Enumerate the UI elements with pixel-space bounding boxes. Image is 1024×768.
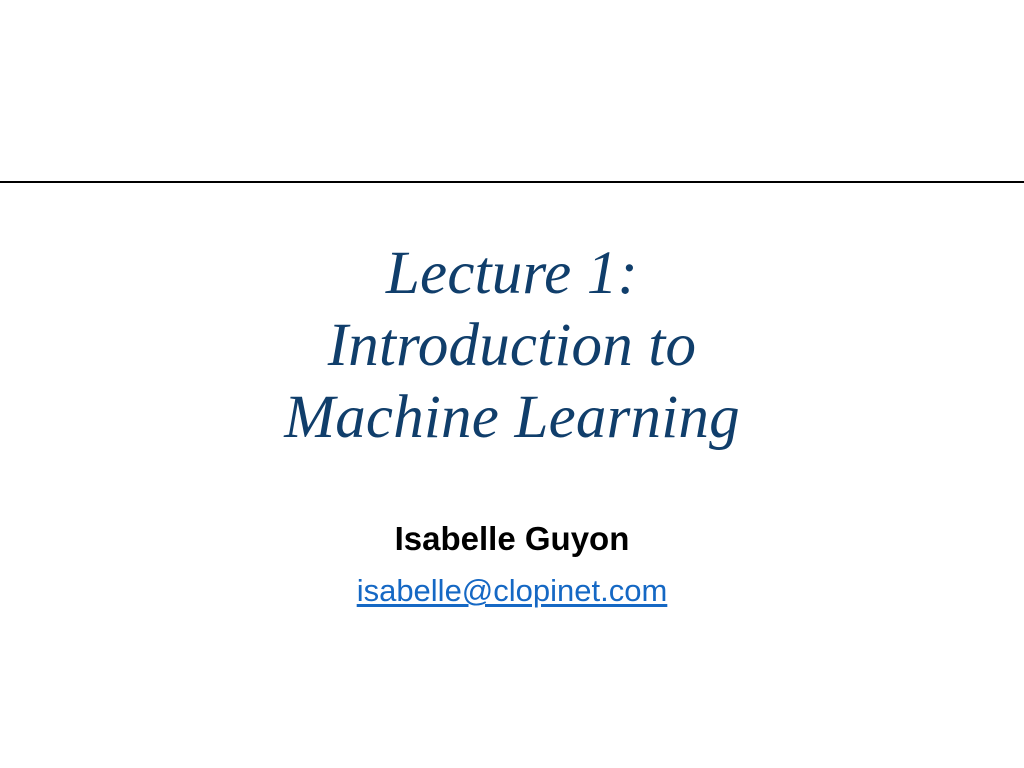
slide-footer-band bbox=[0, 658, 1024, 768]
author-email-link[interactable]: isabelle@clopinet.com bbox=[357, 573, 668, 608]
author-block: Isabelle Guyon isabelle@clopinet.com bbox=[0, 519, 1024, 609]
author-name: Isabelle Guyon bbox=[0, 519, 1024, 559]
title-line-2: Introduction to bbox=[0, 310, 1024, 382]
slide-title: Lecture 1: Introduction to Machine Learn… bbox=[0, 238, 1024, 454]
title-line-1: Lecture 1: bbox=[0, 238, 1024, 310]
author-email-row: isabelle@clopinet.com bbox=[0, 573, 1024, 609]
presentation-slide: Lecture 1: Introduction to Machine Learn… bbox=[0, 0, 1024, 768]
slide-header-band bbox=[0, 0, 1024, 181]
title-line-3: Machine Learning bbox=[0, 382, 1024, 454]
